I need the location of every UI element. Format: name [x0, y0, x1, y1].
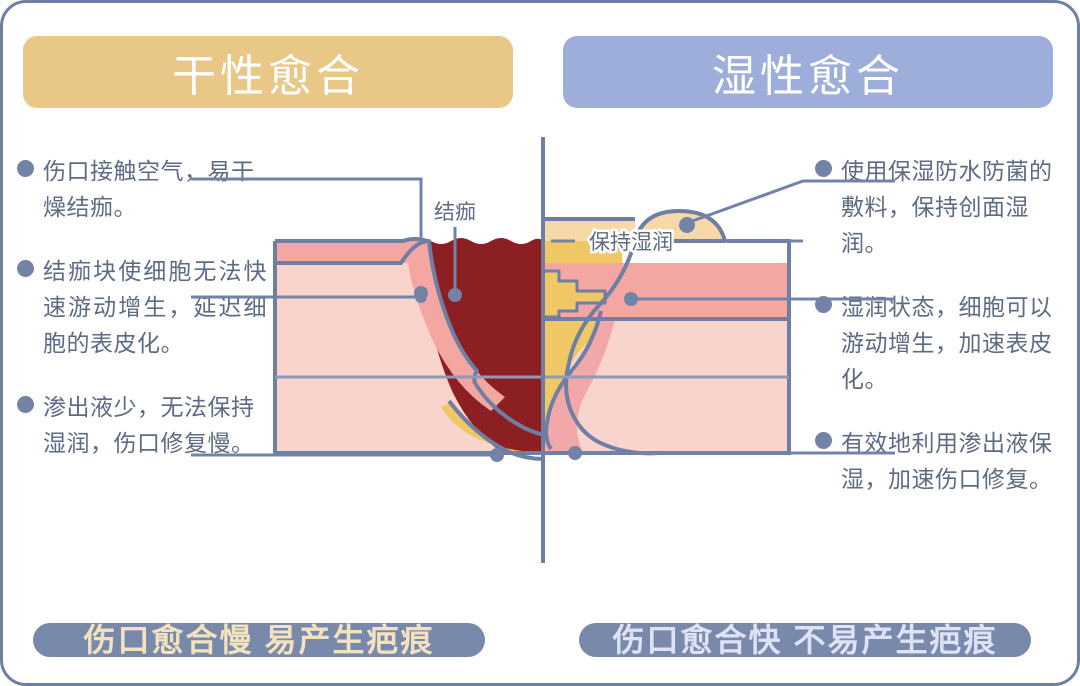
wound-cross-section-diagram: 结痂 保持湿润: [3, 123, 1080, 593]
header-pill-moist-healing: 湿性愈合: [563, 36, 1053, 108]
endpoint-dot: [490, 448, 504, 462]
dry-wound-illustration: [275, 238, 571, 459]
leader-dry-air: [191, 179, 421, 241]
endpoint-dot: [679, 217, 695, 233]
leader-moist-dressing: [687, 181, 895, 223]
label-keep-moist: 保持湿润: [589, 231, 673, 254]
banner-text-dry: 伤口愈合慢 易产生疤痕: [33, 615, 485, 661]
banner-text-moist: 伤口愈合快 不易产生疤痕: [579, 615, 1031, 661]
label-scab: 结痂: [434, 201, 476, 224]
endpoint-dot: [415, 291, 427, 303]
header-pill-dry-healing: 干性愈合: [23, 36, 513, 108]
endpoint-dot: [624, 292, 638, 306]
dry-epidermis-outline: [275, 239, 427, 241]
endpoint-dot: [448, 288, 462, 302]
endpoint-dot: [568, 446, 582, 460]
infographic-card: 干性愈合 湿性愈合 伤口接触空气，易干燥结痂。 结痂块使细胞无法快速游动增生，延…: [0, 0, 1080, 686]
